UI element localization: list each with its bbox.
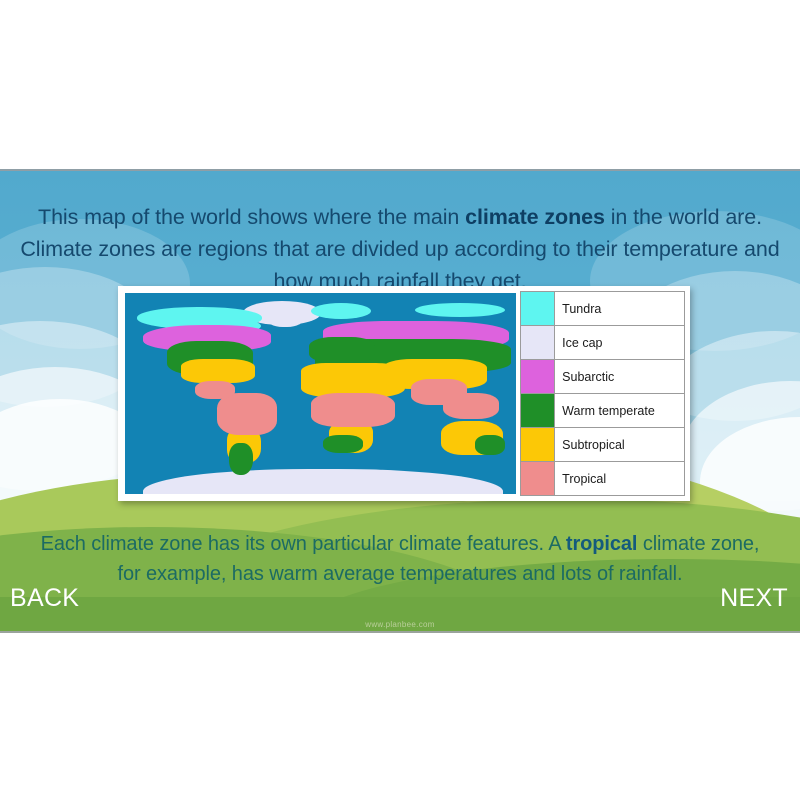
map-region-sea-tropical: [443, 393, 499, 419]
legend-row: Tundra: [521, 292, 684, 326]
next-button[interactable]: NEXT: [720, 584, 788, 613]
legend-row: Subtropical: [521, 428, 684, 462]
watermark: www.planbee.com: [0, 620, 800, 629]
map-region-siberia-tundra: [415, 303, 505, 317]
legend-label: Ice cap: [555, 326, 684, 359]
outro-paragraph: Each climate zone has its own particular…: [40, 529, 760, 589]
map-region-se-australia-green: [475, 435, 505, 455]
legend-swatch-warm-temperate: [521, 394, 555, 427]
intro-run-0: This map of the world shows where the ma…: [38, 205, 465, 229]
intro-paragraph: This map of the world shows where the ma…: [18, 201, 782, 297]
screenshot-stage: This map of the world shows where the ma…: [0, 0, 800, 800]
map-region-greenland-ice: [265, 305, 305, 327]
legend-swatch-tundra: [521, 292, 555, 325]
legend-row: Ice cap: [521, 326, 684, 360]
back-button[interactable]: BACK: [10, 584, 79, 613]
legend-label: Tropical: [555, 462, 684, 495]
legend-label: Tundra: [555, 292, 684, 325]
legend-swatch-tropical: [521, 462, 555, 495]
legend-label: Subtropical: [555, 428, 684, 461]
map-region-africa-tropical: [311, 393, 395, 427]
map-region-amazon-tropical: [217, 393, 277, 435]
legend-label: Warm temperate: [555, 394, 684, 427]
climate-map-card: TundraIce capSubarcticWarm temperateSubt…: [118, 286, 690, 501]
map-region-na-subtropical: [181, 359, 255, 383]
map-region-antarctica-ice: [143, 469, 503, 494]
map-region-europe-temperate: [309, 337, 375, 363]
climate-legend: TundraIce capSubarcticWarm temperateSubt…: [520, 291, 685, 496]
legend-swatch-subarctic: [521, 360, 555, 393]
lesson-slide: This map of the world shows where the ma…: [0, 169, 800, 633]
legend-row: Warm temperate: [521, 394, 684, 428]
map-region-c-america-tropical: [195, 381, 235, 399]
map-canvas: [125, 293, 516, 494]
legend-swatch-subtropical: [521, 428, 555, 461]
legend-swatch-ice-cap: [521, 326, 555, 359]
world-climate-map: [123, 291, 516, 496]
legend-label: Subarctic: [555, 360, 684, 393]
map-region-s-africa-green: [323, 435, 363, 453]
outro-run-1: tropical: [566, 533, 637, 555]
map-region-arctic-tundra-r: [311, 303, 371, 319]
map-region-s-america-green: [229, 443, 253, 475]
outro-run-0: Each climate zone has its own particular…: [41, 533, 566, 555]
intro-run-1: climate zones: [465, 205, 605, 229]
legend-row: Tropical: [521, 462, 684, 496]
legend-row: Subarctic: [521, 360, 684, 394]
